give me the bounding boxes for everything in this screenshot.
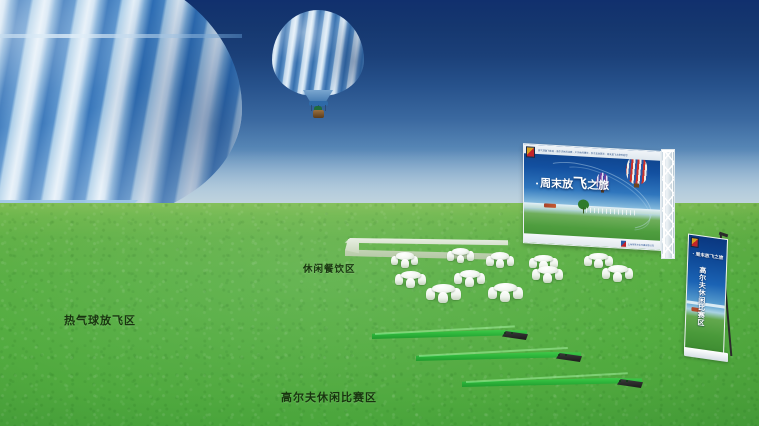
rollup-vertical-text: 高尔夫休闲比赛区 (696, 266, 708, 327)
table-set[interactable] (427, 281, 462, 303)
table-set[interactable] (448, 246, 475, 263)
sponsor-logo-icon (691, 237, 699, 248)
rollup-headline: · 周末放飞之旅 (692, 251, 723, 261)
headline-suffix: 之旅 (587, 178, 609, 192)
label-dining-zone: 休闲餐饮区 (303, 261, 356, 275)
billboard-farmhouse (544, 203, 556, 208)
table-set[interactable] (533, 263, 564, 283)
billboard-footer-text: 上海某某文化传播有限公司 (628, 241, 654, 246)
garden-chair[interactable] (457, 255, 465, 264)
event-billboard[interactable]: 热气球放飞体验 · 高尔夫休闲比赛 · 户外休闲餐饮 · 亲子互动游戏 · 周末… (523, 147, 675, 259)
counter-top-surface (345, 238, 508, 248)
billboard-balloon-basket-1 (634, 183, 639, 187)
headline-prefix: 周末放 (540, 177, 573, 191)
garden-chair[interactable] (594, 259, 602, 268)
label-golf-zone: 高尔夫休闲比赛区 (281, 389, 377, 405)
garden-chair[interactable] (496, 259, 504, 268)
tree-trunk (583, 207, 585, 213)
rollup-face: · 周末放飞之旅 高尔夫休闲比赛区 (684, 233, 728, 356)
billboard-headline: 周末放飞之旅 (536, 171, 609, 194)
company-logo-icon (621, 240, 626, 246)
garden-chair[interactable] (406, 278, 415, 288)
balloon-basket-small (313, 110, 324, 118)
headline-accent: 飞 (573, 176, 587, 193)
rollup-banner[interactable]: · 周末放飞之旅 高尔夫休闲比赛区 (686, 236, 744, 364)
sponsor-logo-icon (526, 146, 535, 158)
balloon-envelope-small (272, 10, 364, 96)
table-set[interactable] (603, 262, 634, 282)
table-set[interactable] (489, 280, 524, 302)
billboard-strip-text: 热气球放飞体验 · 高尔夫休闲比赛 · 户外休闲餐饮 · 亲子互动游戏 · 周末… (538, 147, 628, 156)
table-set[interactable] (396, 268, 427, 288)
garden-chair[interactable] (438, 292, 448, 303)
mat-hole (565, 354, 568, 356)
garden-chair[interactable] (401, 259, 409, 268)
truss-rail-right (672, 150, 674, 258)
balloon-band (0, 34, 242, 38)
golf-putting-mat[interactable] (416, 352, 581, 365)
garden-chair[interactable] (613, 272, 622, 282)
truss-rail-left (663, 150, 665, 258)
truss-column (661, 149, 675, 259)
mat-hole (626, 380, 629, 382)
headline-dot-icon (536, 183, 538, 185)
golf-putting-mat[interactable] (372, 330, 527, 343)
table-set[interactable] (392, 250, 419, 268)
billboard-footer: 上海某某文化传播有限公司 (524, 233, 660, 250)
label-balloon-zone: 热气球放飞区 (64, 312, 136, 328)
garden-chair[interactable] (500, 291, 510, 302)
billboard-face: 热气球放飞体验 · 高尔夫休闲比赛 · 户外休闲餐饮 · 亲子互动游戏 · 周末… (523, 143, 661, 251)
hot-air-balloon-small (272, 10, 364, 128)
garden-chair[interactable] (543, 273, 552, 283)
billboard-top-strip: 热气球放飞体验 · 高尔夫休闲比赛 · 户外休闲餐饮 · 亲子互动游戏 · 周末… (524, 144, 660, 161)
mat-hole (511, 332, 514, 334)
buffet-counter (345, 238, 508, 264)
scene-root: 热气球放飞体验 · 高尔夫休闲比赛 · 户外休闲餐饮 · 亲子互动游戏 · 周末… (0, 0, 759, 426)
garden-chair[interactable] (465, 277, 474, 287)
table-set[interactable] (487, 250, 515, 268)
golf-putting-mat[interactable] (462, 378, 642, 391)
